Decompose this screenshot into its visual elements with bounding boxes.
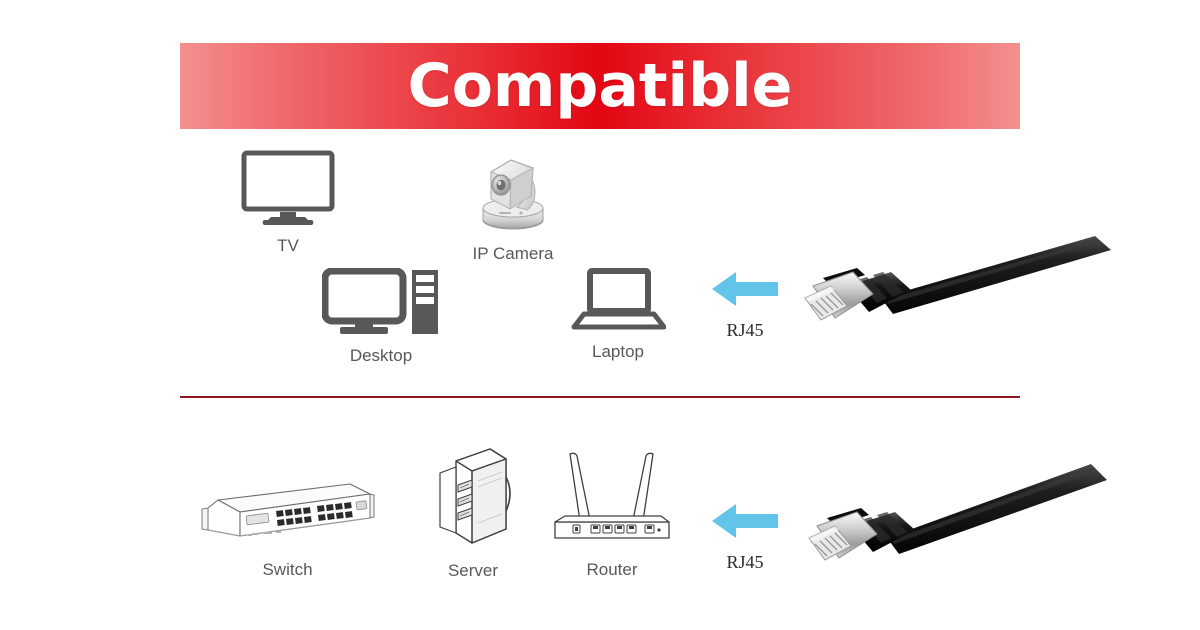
left-arrow-icon [710,500,780,547]
device-desktop: Desktop [314,268,448,366]
device-server: Server [432,443,514,581]
device-label: Switch [262,561,312,580]
network-switch-icon [200,478,375,555]
page-title: Compatible [408,56,793,116]
ip-camera-icon [469,150,557,239]
rj45-ethernet-cable-bottom [795,462,1200,582]
device-label: Desktop [350,347,412,366]
laptop-icon [570,268,666,337]
wifi-router-icon [549,448,675,555]
compatible-banner: Compatible [180,43,1020,129]
device-label: TV [277,237,299,256]
device-label: Router [586,561,637,580]
left-arrow-icon [710,268,780,315]
device-switch: Switch [195,478,380,580]
device-router: Router [548,448,676,580]
device-label: Server [448,562,498,581]
device-tv: TV [228,150,348,256]
connector-label: RJ45 [726,321,763,341]
device-label: Laptop [592,343,644,362]
device-ip-camera: IP Camera [458,150,568,264]
connector-label: RJ45 [726,553,763,573]
device-laptop: Laptop [558,268,678,362]
rj45-ethernet-cable-top [795,228,1200,348]
connector-rj45-bottom: RJ45 [690,500,800,573]
desktop-computer-icon [322,268,440,341]
section-divider [180,396,1020,398]
device-label: IP Camera [473,245,554,264]
connector-rj45-top: RJ45 [690,268,800,341]
tv-icon [240,150,336,231]
server-rack-icon [434,443,512,556]
